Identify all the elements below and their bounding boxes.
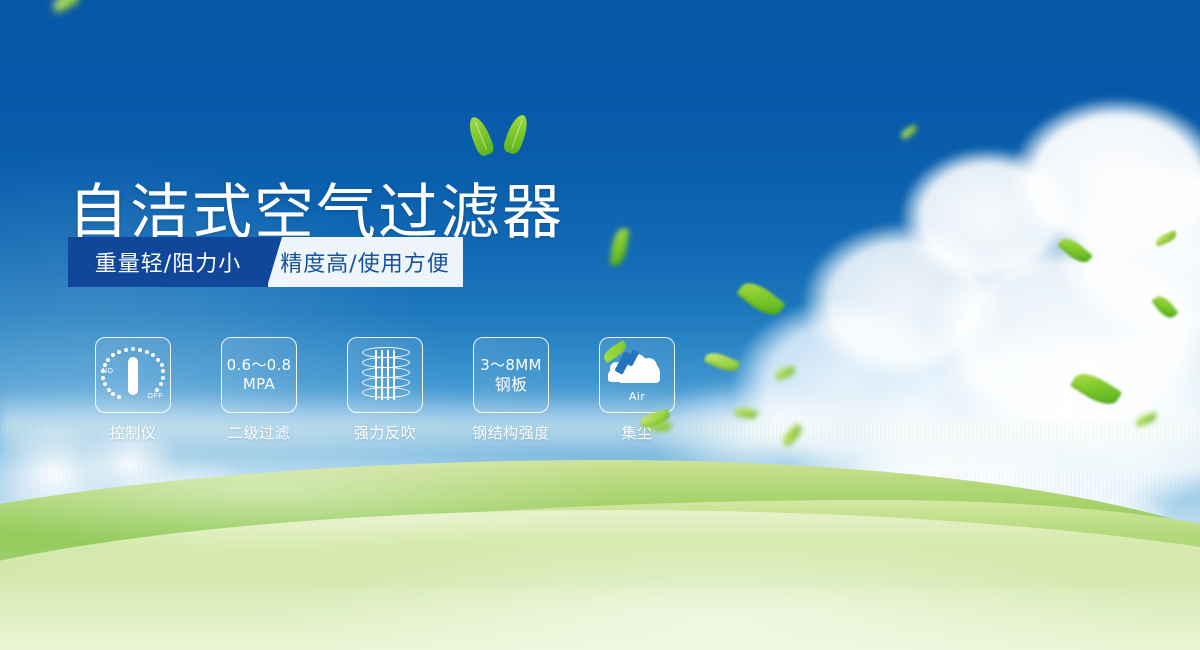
steel-material: 钢板 xyxy=(480,375,541,394)
feature-icon-box: 0.6～0.8 MPA xyxy=(221,337,297,413)
feature-icon-box xyxy=(347,337,423,413)
feature-icon-box: Air xyxy=(599,337,675,413)
feature-label: 控制仪 xyxy=(110,422,157,443)
feature-item-two-stage-filter[interactable]: 0.6～0.8 MPA 二级过滤 xyxy=(196,337,322,443)
feature-item-strong-back-blow[interactable]: 强力反吹 xyxy=(322,337,448,443)
grass-light-sheen xyxy=(0,420,1200,650)
product-hero-banner: 自洁式空气过滤器 重量轻/阻力小 精度高/使用方便 xyxy=(0,0,1200,650)
feature-item-steel-structure[interactable]: 3～8MM 钢板 钢结构强度 xyxy=(448,337,574,443)
subtitle-bar: 重量轻/阻力小 精度高/使用方便 xyxy=(68,237,464,287)
pressure-unit: MPA xyxy=(227,375,292,394)
steel-plate-text-icon: 3～8MM 钢板 xyxy=(480,356,541,394)
pressure-text-icon: 0.6～0.8 MPA xyxy=(227,356,292,394)
feature-list: NO OFF 控制仪 0.6～0.8 MPA 二级过滤 xyxy=(70,337,700,443)
subtitle-right-text: 精度高/使用方便 xyxy=(280,246,449,278)
grass-field xyxy=(0,420,1200,650)
sprout-leaves-icon xyxy=(470,108,540,164)
feature-label: 强力反吹 xyxy=(354,422,416,443)
air-label: Air xyxy=(608,390,666,403)
gauge-label-no: NO xyxy=(102,368,114,375)
steel-thickness: 3～8MM xyxy=(480,356,541,375)
feature-item-dust-collection[interactable]: Air 集尘 xyxy=(574,337,700,443)
pressure-value: 0.6～0.8 xyxy=(227,356,292,375)
gauge-needle xyxy=(128,357,138,395)
feature-item-controller[interactable]: NO OFF 控制仪 xyxy=(70,337,196,443)
feature-label: 钢结构强度 xyxy=(472,422,550,443)
feature-label: 二级过滤 xyxy=(228,422,290,443)
page-title: 自洁式空气过滤器 xyxy=(68,183,564,243)
subtitle-right-segment: 精度高/使用方便 xyxy=(267,237,463,287)
subtitle-left-segment: 重量轻/阻力小 xyxy=(68,237,268,287)
gauge-label-off: OFF xyxy=(148,393,164,400)
air-cloud-icon: Air xyxy=(608,350,666,400)
feature-icon-box: 3～8MM 钢板 xyxy=(473,337,549,413)
feature-icon-box: NO OFF xyxy=(95,337,171,413)
gauge-dial-icon: NO OFF xyxy=(102,346,164,404)
subtitle-left-text: 重量轻/阻力小 xyxy=(95,246,241,278)
filter-coil-icon xyxy=(362,347,408,403)
